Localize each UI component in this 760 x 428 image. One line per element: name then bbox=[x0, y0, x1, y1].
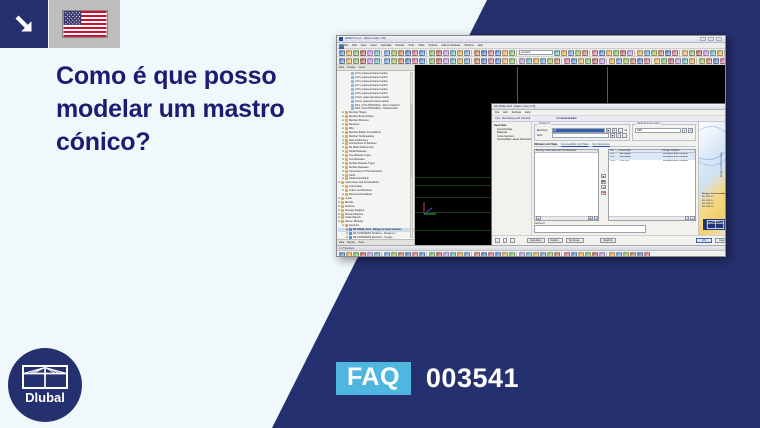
tree-expand-icon[interactable]: ⊞ bbox=[342, 158, 344, 161]
toolbar-button[interactable] bbox=[384, 58, 390, 64]
toolbar-button[interactable] bbox=[346, 50, 352, 56]
toolbar-button[interactable] bbox=[592, 50, 598, 56]
toolbar-button[interactable] bbox=[405, 58, 411, 64]
toolbar-button[interactable] bbox=[706, 58, 712, 64]
toolbar-button[interactable] bbox=[509, 58, 515, 64]
toolbar-button[interactable] bbox=[533, 252, 539, 258]
toolbar-button[interactable] bbox=[374, 58, 380, 64]
minimize-button[interactable] bbox=[700, 37, 706, 41]
toolbar-button[interactable] bbox=[360, 58, 366, 64]
tree-expand-icon[interactable]: ⊞ bbox=[338, 201, 340, 204]
toolbar-button[interactable] bbox=[547, 252, 553, 258]
tree-node-icon bbox=[345, 166, 348, 169]
toolbar-button[interactable] bbox=[568, 50, 574, 56]
navigator-bottom-tab-data[interactable]: Data bbox=[339, 241, 344, 244]
toolbar-button[interactable] bbox=[554, 50, 560, 56]
navigator-bottom-tabs[interactable]: Data Display Views bbox=[337, 239, 414, 245]
dialog-nav-restraints[interactable]: Intermediate Lateral Restraints bbox=[494, 138, 531, 142]
toolbar-separator bbox=[471, 50, 473, 56]
toolbar-button[interactable] bbox=[464, 252, 470, 258]
toolbar-button[interactable] bbox=[564, 252, 570, 258]
existing-options-icon[interactable]: ⋮ bbox=[594, 216, 599, 220]
tree-node-label: RF-CONCRETE Members - Design ... bbox=[353, 236, 395, 239]
maximize-button[interactable] bbox=[708, 37, 714, 41]
toolbar-button[interactable] bbox=[627, 50, 633, 56]
faq-number: 003541 bbox=[426, 365, 519, 392]
toolbar-button[interactable] bbox=[481, 252, 487, 258]
toolbar-button[interactable] bbox=[436, 58, 442, 64]
toolbar-button[interactable] bbox=[481, 50, 487, 56]
toolbar-button[interactable] bbox=[457, 252, 463, 258]
toolbar-button[interactable] bbox=[509, 252, 515, 258]
sets-all-checkbox[interactable] bbox=[622, 133, 627, 137]
navigator-pane: Data Display Views LC4 | quasi-permanent… bbox=[337, 65, 415, 245]
toolbar-button[interactable] bbox=[658, 50, 664, 56]
model-viewport[interactable]: ⌖ RF-STEEL EC3 - [Mast model 1.rf5] × Fi… bbox=[415, 65, 725, 245]
toolbar-button[interactable] bbox=[599, 50, 605, 56]
toolbar-separator bbox=[516, 58, 518, 64]
toolbar-button[interactable] bbox=[696, 50, 702, 56]
tree-node-label: LC9 | quasi-permanent action bbox=[355, 92, 388, 95]
toolbar-button[interactable] bbox=[637, 252, 643, 258]
toolbar-button[interactable] bbox=[429, 252, 435, 258]
tree-node-icon bbox=[345, 139, 348, 142]
selected-for-design-list[interactable]: No. Description Design Situation LC1Self… bbox=[608, 149, 696, 221]
toolbar-button[interactable] bbox=[606, 50, 612, 56]
toolbar-button[interactable] bbox=[661, 58, 667, 64]
tree-node-label: Guide Objects bbox=[345, 216, 361, 219]
dialog-footer[interactable]: Calculation Details... Set Areas... Grap… bbox=[492, 235, 725, 245]
toolbar-button[interactable] bbox=[412, 58, 418, 64]
navigator-scrollbar[interactable] bbox=[410, 72, 413, 238]
menu-insert[interactable]: Insert bbox=[370, 44, 377, 47]
tree-expand-icon[interactable]: ⊞ bbox=[342, 177, 344, 180]
toolbar-separator bbox=[516, 252, 518, 258]
navigator-bottom-tab-views[interactable]: Views bbox=[358, 241, 364, 244]
footer-units-icon[interactable] bbox=[510, 238, 515, 243]
toolbar-button[interactable] bbox=[644, 252, 650, 258]
toolbar-button[interactable] bbox=[405, 252, 411, 258]
dialog-menu-edit[interactable]: Edit bbox=[503, 111, 507, 114]
tab-fire-resistance[interactable]: Fire Resistance bbox=[593, 143, 610, 146]
toolbar-button[interactable] bbox=[623, 58, 629, 64]
set-areas-button[interactable]: Set Areas... bbox=[566, 238, 584, 243]
toolbar-button[interactable] bbox=[526, 252, 532, 258]
toolbar-button[interactable] bbox=[488, 252, 494, 258]
toolbar-button[interactable] bbox=[699, 58, 705, 64]
toolbar-button[interactable] bbox=[592, 58, 598, 64]
toolbar-button[interactable] bbox=[710, 50, 716, 56]
national-annex-select[interactable]: CEN bbox=[635, 128, 681, 132]
toolbar-separator bbox=[426, 252, 428, 258]
selected-list-footer[interactable]: ↕ ⋮ bbox=[609, 216, 695, 220]
toolbar-button[interactable] bbox=[540, 252, 546, 258]
tree-expand-icon[interactable]: ⊞ bbox=[342, 162, 344, 165]
close-button[interactable] bbox=[716, 37, 722, 41]
app-titlebar: RFEM 5.xx.xx - [Mast model 1.rf5] bbox=[337, 36, 725, 43]
toolbar-button[interactable] bbox=[540, 58, 546, 64]
toolbar-button[interactable] bbox=[609, 252, 615, 258]
menu-help[interactable]: Help bbox=[478, 44, 483, 47]
menu-results[interactable]: Results bbox=[396, 44, 405, 47]
toolbar-button[interactable] bbox=[613, 50, 619, 56]
selected-sort-icon[interactable]: ↕ bbox=[685, 216, 690, 220]
toolbar-button[interactable] bbox=[644, 50, 650, 56]
tree-node-icon bbox=[349, 232, 352, 235]
tree-node-icon bbox=[341, 216, 344, 219]
navigator-bottom-tab-display[interactable]: Display bbox=[347, 241, 355, 244]
toolbar-button[interactable] bbox=[474, 50, 480, 56]
toolbar-button[interactable] bbox=[620, 50, 626, 56]
tree-node-label: Add-on Modules bbox=[345, 220, 363, 223]
existing-list-body[interactable] bbox=[535, 153, 598, 216]
toolbar-button[interactable] bbox=[599, 252, 605, 258]
toolbar-button[interactable] bbox=[374, 50, 380, 56]
toolbar-button[interactable] bbox=[509, 50, 515, 56]
toolbar-button[interactable] bbox=[630, 58, 636, 64]
toolbar-button[interactable] bbox=[689, 58, 695, 64]
ok-button[interactable]: OK bbox=[696, 238, 712, 243]
toolbar-button[interactable] bbox=[419, 252, 425, 258]
menu-window[interactable]: Window bbox=[464, 44, 473, 47]
tree-expand-icon[interactable]: ⊞ bbox=[342, 166, 344, 169]
dlubal-logo: Dlubal bbox=[8, 348, 82, 422]
tree-node-icon bbox=[341, 209, 344, 212]
dialog-section-title: 1.1 General Data bbox=[556, 117, 576, 120]
national-annex-settings-icon[interactable]: ⚙ bbox=[688, 128, 693, 132]
dialog-limit-state-tabs[interactable]: Ultimate Limit State Serviceability Limi… bbox=[534, 143, 696, 148]
toolbar-button[interactable] bbox=[637, 58, 643, 64]
toolbar-button[interactable] bbox=[502, 58, 508, 64]
tree-expand-icon[interactable]: ⊞ bbox=[342, 224, 344, 227]
toolbar-separator bbox=[696, 58, 698, 64]
toolbar-button[interactable] bbox=[384, 252, 390, 258]
toolbar-button[interactable] bbox=[623, 252, 629, 258]
tree-node-icon bbox=[341, 213, 344, 216]
toolbar-button[interactable] bbox=[346, 252, 352, 258]
toolbar-button[interactable] bbox=[391, 58, 397, 64]
toolbar-button[interactable] bbox=[561, 50, 567, 56]
national-annex-dropdown-icon[interactable]: ▾ bbox=[682, 128, 687, 132]
row-no: CO1 bbox=[609, 160, 618, 163]
menu-table[interactable]: Table bbox=[418, 44, 424, 47]
dialog-case-selector[interactable]: CA1 - Remaining web General bbox=[492, 117, 530, 120]
toolbar-button[interactable] bbox=[609, 58, 615, 64]
tree-node-label: LC7 | quasi-permanent action bbox=[355, 84, 388, 87]
toolbar-button[interactable] bbox=[367, 252, 373, 258]
toolbar-button[interactable] bbox=[519, 252, 525, 258]
toolbar-button[interactable] bbox=[502, 50, 508, 56]
sets-label: Sets: bbox=[537, 134, 550, 137]
toolbar-button[interactable] bbox=[713, 58, 719, 64]
toolbar-button[interactable] bbox=[398, 252, 404, 258]
toolbar-button[interactable] bbox=[398, 50, 404, 56]
toolbar-button[interactable] bbox=[689, 50, 695, 56]
toolbar-button[interactable] bbox=[495, 252, 501, 258]
toolbar-button[interactable] bbox=[457, 58, 463, 64]
tree-expand-icon[interactable]: ⊞ bbox=[342, 115, 344, 118]
tree-node-icon bbox=[341, 197, 344, 200]
rf-steel-ec3-dialog[interactable]: RF-STEEL EC3 - [Mast model 1.rf5] × File… bbox=[491, 103, 725, 245]
toolbar-button[interactable] bbox=[495, 50, 501, 56]
tab-ultimate-limit-state[interactable]: Ultimate Limit State bbox=[534, 143, 557, 146]
tree-expand-icon[interactable]: ⊞ bbox=[342, 146, 344, 149]
toolbar-button[interactable] bbox=[571, 58, 577, 64]
toolbar-button[interactable] bbox=[464, 50, 470, 56]
toolbar-button[interactable] bbox=[578, 252, 584, 258]
menu-tools[interactable]: Tools bbox=[408, 44, 414, 47]
transfer-remove-icon[interactable]: ◀ bbox=[601, 185, 607, 189]
toolbar-button[interactable] bbox=[374, 252, 380, 258]
tree-expand-icon[interactable]: ⊞ bbox=[338, 205, 340, 208]
tree-node-label: Sections bbox=[345, 205, 355, 208]
transfer-buttons[interactable]: ▶ ▶▶ ◀ ◀◀ bbox=[601, 149, 607, 221]
dialog-menu-help[interactable]: Help bbox=[525, 111, 530, 114]
toolbar-button[interactable] bbox=[554, 252, 560, 258]
tree-node-label: Surface Releases bbox=[349, 166, 369, 169]
comment-input[interactable] bbox=[534, 225, 646, 233]
toolbar-button[interactable] bbox=[582, 50, 588, 56]
tree-node-label: Results bbox=[345, 201, 353, 204]
toolbar-button[interactable] bbox=[339, 50, 345, 56]
tree-expand-icon[interactable]: ⊞ bbox=[342, 185, 344, 188]
tree-expand-icon[interactable]: ⊞ bbox=[338, 197, 340, 200]
tree-expand-icon[interactable]: ⊞ bbox=[346, 228, 348, 231]
toolbar-button[interactable] bbox=[720, 58, 726, 64]
selected-list-body[interactable]: LC1Self-weightPersistent and TransientLC… bbox=[609, 153, 695, 216]
existing-load-cases-list[interactable]: Existing Load Cases and Combinations ▾ ☰… bbox=[534, 149, 599, 221]
toolbar-button[interactable] bbox=[412, 252, 418, 258]
tree-expand-icon[interactable]: ⊞ bbox=[342, 135, 344, 138]
page-title: Como é que posso modelar um mastro cónic… bbox=[56, 60, 316, 159]
toolbar-button[interactable] bbox=[429, 50, 435, 56]
sets-edit-icon[interactable]: ✎ bbox=[616, 133, 621, 137]
dialog-main: Input Data General Data Materials Cross-… bbox=[492, 122, 725, 235]
tree-expand-icon[interactable]: ⊞ bbox=[342, 123, 344, 126]
tree-expand-icon[interactable]: ⊞ bbox=[338, 220, 340, 223]
tree-expand-icon[interactable]: ⊞ bbox=[338, 213, 340, 216]
tree-expand-icon[interactable]: ⊞ bbox=[338, 181, 340, 184]
toolbar-button[interactable] bbox=[585, 58, 591, 64]
toolbar-button[interactable] bbox=[578, 58, 584, 64]
dialog-menu-file[interactable]: File bbox=[495, 111, 499, 114]
toolbar-button[interactable] bbox=[405, 50, 411, 56]
toolbar-button[interactable] bbox=[717, 50, 723, 56]
toolbar-button[interactable] bbox=[630, 252, 636, 258]
tree-expand-icon[interactable]: ⊞ bbox=[342, 170, 344, 173]
existing-filter-icon[interactable]: ▾ bbox=[536, 216, 541, 220]
toolbar-button[interactable] bbox=[436, 252, 442, 258]
members-clear-icon[interactable]: ✖ bbox=[612, 128, 617, 132]
details-button[interactable]: Details... bbox=[548, 238, 563, 243]
toolbar-button[interactable] bbox=[616, 58, 622, 64]
toolbar-button[interactable] bbox=[391, 252, 397, 258]
tree-node-icon bbox=[351, 92, 354, 95]
toolbar-button[interactable] bbox=[419, 58, 425, 64]
toolbar-button[interactable] bbox=[651, 50, 657, 56]
toolbar-button[interactable] bbox=[675, 58, 681, 64]
tree-expand-icon[interactable]: ⊞ bbox=[342, 111, 344, 114]
toolbar-button[interactable] bbox=[429, 58, 435, 64]
toolbar-button[interactable] bbox=[367, 58, 373, 64]
dialog-menu-settings[interactable]: Settings bbox=[512, 111, 521, 114]
tree-node-label: RF-CONCRETE Surfaces - Design of ... bbox=[353, 232, 397, 235]
navigator-scrollbar-thumb[interactable] bbox=[411, 103, 412, 178]
toolbar-button[interactable] bbox=[474, 58, 480, 64]
transfer-add-all-icon[interactable]: ▶▶ bbox=[601, 180, 607, 184]
toolbar-button[interactable] bbox=[353, 252, 359, 258]
menu-options[interactable]: Options bbox=[429, 44, 438, 47]
toolbar-button[interactable] bbox=[464, 58, 470, 64]
tree-node-icon bbox=[345, 115, 348, 118]
toolbar-button[interactable] bbox=[575, 50, 581, 56]
toolbar-button[interactable] bbox=[481, 58, 487, 64]
tree-expand-icon[interactable]: ⊞ bbox=[342, 142, 344, 145]
tree-expand-icon[interactable]: ⊞ bbox=[342, 150, 344, 153]
tree-expand-icon[interactable]: ⊞ bbox=[342, 119, 344, 122]
app-menu-icon bbox=[339, 44, 344, 49]
tree-node-icon bbox=[345, 111, 348, 114]
tree-node-icon bbox=[341, 220, 344, 223]
selected-options-icon[interactable]: ⋮ bbox=[690, 216, 695, 220]
navigator-tree[interactable]: LC4 | quasi-permanent actionLC5 | quasi-… bbox=[337, 71, 414, 239]
tree-expand-icon[interactable]: ⊞ bbox=[346, 232, 348, 235]
toolbar-button[interactable] bbox=[585, 252, 591, 258]
tree-node-icon bbox=[351, 100, 354, 103]
tree-node-icon bbox=[345, 154, 348, 157]
transfer-remove-all-icon[interactable]: ◀◀ bbox=[601, 191, 607, 195]
tree-expand-icon[interactable]: ⊞ bbox=[338, 216, 340, 219]
tree-expand-icon[interactable]: ⊞ bbox=[342, 127, 344, 130]
selected-design-row[interactable]: CO11.35*LC1Persistent and Transient bbox=[609, 160, 695, 163]
tree-expand-icon[interactable]: ⊞ bbox=[338, 209, 340, 212]
toolbar-button[interactable] bbox=[644, 58, 650, 64]
toolbar-button[interactable] bbox=[616, 252, 622, 258]
tree-expand-icon[interactable]: ⊞ bbox=[346, 236, 348, 239]
toolbar-button[interactable] bbox=[443, 252, 449, 258]
toolbar-button[interactable] bbox=[488, 58, 494, 64]
menu-file[interactable]: File bbox=[344, 44, 348, 47]
tree-node-icon bbox=[345, 170, 348, 173]
tree-expand-icon[interactable]: ⊞ bbox=[342, 189, 344, 192]
toolbar-button[interactable] bbox=[384, 50, 390, 56]
tree-expand-icon[interactable]: ⊞ bbox=[342, 154, 344, 157]
toolbar-button[interactable] bbox=[353, 50, 359, 56]
toolbar-button[interactable] bbox=[488, 50, 494, 56]
toolbar-button[interactable] bbox=[672, 50, 678, 56]
toolbar-view-combo[interactable]: Isometric bbox=[519, 50, 553, 56]
toolbar-button[interactable] bbox=[526, 58, 532, 64]
existing-select-all-icon[interactable]: ☰ bbox=[588, 216, 593, 220]
toolbar-button[interactable] bbox=[682, 50, 688, 56]
toolbar-button[interactable] bbox=[391, 50, 397, 56]
toolbar-button[interactable] bbox=[450, 252, 456, 258]
toolbar-button[interactable] bbox=[339, 252, 345, 258]
menu-calculate[interactable]: Calculate bbox=[381, 44, 392, 47]
toolbar-primary[interactable]: Isometric bbox=[337, 49, 725, 57]
toolbar-button[interactable] bbox=[412, 50, 418, 56]
members-input[interactable]: All bbox=[552, 128, 605, 132]
toolbar-button[interactable] bbox=[443, 58, 449, 64]
toolbar-button[interactable] bbox=[547, 58, 553, 64]
toolbar-button[interactable] bbox=[346, 58, 352, 64]
toolbar-button[interactable] bbox=[599, 58, 605, 64]
toolbar-button[interactable] bbox=[637, 50, 643, 56]
toolbar-button[interactable] bbox=[668, 58, 674, 64]
toolbar-button[interactable] bbox=[665, 50, 671, 56]
sets-input[interactable] bbox=[552, 133, 609, 137]
design-of-label: Design of bbox=[538, 122, 551, 125]
tree-expand-icon[interactable]: ⊞ bbox=[342, 174, 344, 177]
members-pick-icon[interactable]: ▣ bbox=[606, 128, 611, 132]
calculation-button[interactable]: Calculation bbox=[527, 238, 545, 243]
cancel-button[interactable]: Cancel bbox=[715, 238, 725, 243]
footer-info-icon[interactable] bbox=[495, 238, 500, 243]
toolbar-button[interactable] bbox=[502, 252, 508, 258]
members-all-checkbox[interactable] bbox=[618, 128, 623, 132]
menu-view[interactable]: View bbox=[361, 44, 367, 47]
dialog-navigator[interactable]: Input Data General Data Materials Cross-… bbox=[492, 122, 532, 235]
toolbar-button[interactable] bbox=[533, 58, 539, 64]
sets-pick-icon[interactable]: ▣ bbox=[610, 133, 615, 137]
tree-expand-icon[interactable]: ⊞ bbox=[342, 193, 344, 196]
toolbar-button[interactable] bbox=[367, 50, 373, 56]
toolbar-button[interactable] bbox=[353, 58, 359, 64]
toolbar-button[interactable] bbox=[564, 58, 570, 64]
toolbar-button[interactable] bbox=[450, 58, 456, 64]
toolbar-button[interactable] bbox=[495, 58, 501, 64]
existing-list-footer[interactable]: ▾ ☰ ⋮ bbox=[535, 216, 598, 220]
toolbar-button[interactable] bbox=[436, 50, 442, 56]
toolbar-button[interactable] bbox=[339, 58, 345, 64]
toolbar-secondary[interactable] bbox=[337, 57, 725, 65]
brand-standards-list: Design of steel members EN 1993-1-1 EN 1… bbox=[702, 193, 725, 209]
toolbar-button[interactable] bbox=[654, 58, 660, 64]
toolbar-button[interactable] bbox=[519, 58, 525, 64]
navigator-tab-display[interactable]: Display bbox=[347, 66, 355, 69]
menu-edit[interactable]: Edit bbox=[352, 44, 356, 47]
tree-expand-icon[interactable]: ⊞ bbox=[342, 131, 344, 134]
toolbar-button[interactable] bbox=[443, 50, 449, 56]
menu-addons[interactable]: Add-on Modules bbox=[441, 44, 460, 47]
toolbar-button[interactable] bbox=[703, 50, 709, 56]
tree-node-label: Connections of Two Members bbox=[349, 170, 382, 173]
toolbar-button[interactable] bbox=[554, 58, 560, 64]
transfer-add-icon[interactable]: ▶ bbox=[601, 174, 607, 178]
navigator-tab-views[interactable]: Views bbox=[358, 66, 365, 69]
window-controls[interactable] bbox=[700, 37, 723, 41]
table-panel-toolbar[interactable] bbox=[337, 251, 725, 257]
footer-settings-icon[interactable] bbox=[503, 238, 508, 243]
toolbar-button[interactable] bbox=[571, 252, 577, 258]
toolbar-button[interactable] bbox=[398, 58, 404, 64]
toolbar-button[interactable] bbox=[419, 50, 425, 56]
toolbar-button[interactable] bbox=[360, 252, 366, 258]
graphics-button[interactable]: Graphics bbox=[600, 238, 616, 243]
toolbar-button[interactable] bbox=[682, 58, 688, 64]
toolbar-button[interactable] bbox=[592, 252, 598, 258]
navigator-tab-data[interactable]: Data bbox=[339, 66, 344, 69]
tab-serviceability-limit-state[interactable]: Serviceability Limit State bbox=[561, 143, 588, 146]
tree-node-label: Load Cases bbox=[349, 185, 362, 188]
tree-expand-icon[interactable]: ⊞ bbox=[342, 139, 344, 142]
toolbar-button[interactable] bbox=[450, 50, 456, 56]
tree-node-icon bbox=[349, 228, 352, 231]
tree-node-label: RC2 | SLS (STR/GEO) - Characteristic bbox=[355, 107, 398, 110]
toolbar-button[interactable] bbox=[360, 50, 366, 56]
toolbar-button[interactable] bbox=[457, 50, 463, 56]
toolbar-button[interactable] bbox=[474, 252, 480, 258]
